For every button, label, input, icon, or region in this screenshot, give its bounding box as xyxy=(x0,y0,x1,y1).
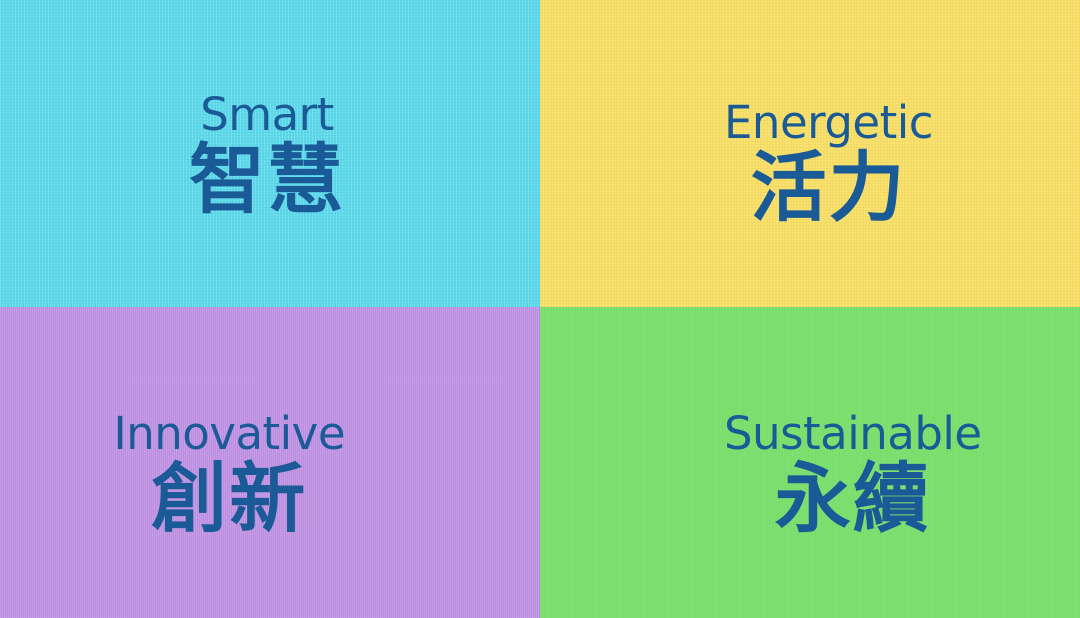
value-english-energetic: Energetic xyxy=(724,100,933,146)
quadrant-sustainable[interactable]: Sustainable 永續 xyxy=(540,307,1080,618)
quadrant-energetic[interactable]: Energetic 活力 xyxy=(540,0,1080,307)
value-english-sustainable: Sustainable xyxy=(724,411,982,457)
value-english-innovative: Innovative xyxy=(113,411,345,457)
value-chinese-energetic: 活力 xyxy=(724,150,933,226)
value-block-smart: Smart 智慧 xyxy=(189,92,345,218)
value-chinese-innovative: 創新 xyxy=(113,461,345,537)
quadrant-innovative[interactable]: Innovative 創新 xyxy=(0,307,540,618)
value-english-smart: Smart xyxy=(189,92,345,138)
value-block-sustainable: Sustainable 永續 xyxy=(724,411,982,537)
brand-values-board: Smart 智慧 Energetic 活力 Innovative 創新 Sust… xyxy=(0,0,1080,618)
value-chinese-sustainable: 永續 xyxy=(724,461,982,537)
value-block-innovative: Innovative 創新 xyxy=(113,411,345,537)
value-chinese-smart: 智慧 xyxy=(189,142,345,218)
quadrant-smart[interactable]: Smart 智慧 xyxy=(0,0,540,307)
value-block-energetic: Energetic 活力 xyxy=(724,100,933,226)
